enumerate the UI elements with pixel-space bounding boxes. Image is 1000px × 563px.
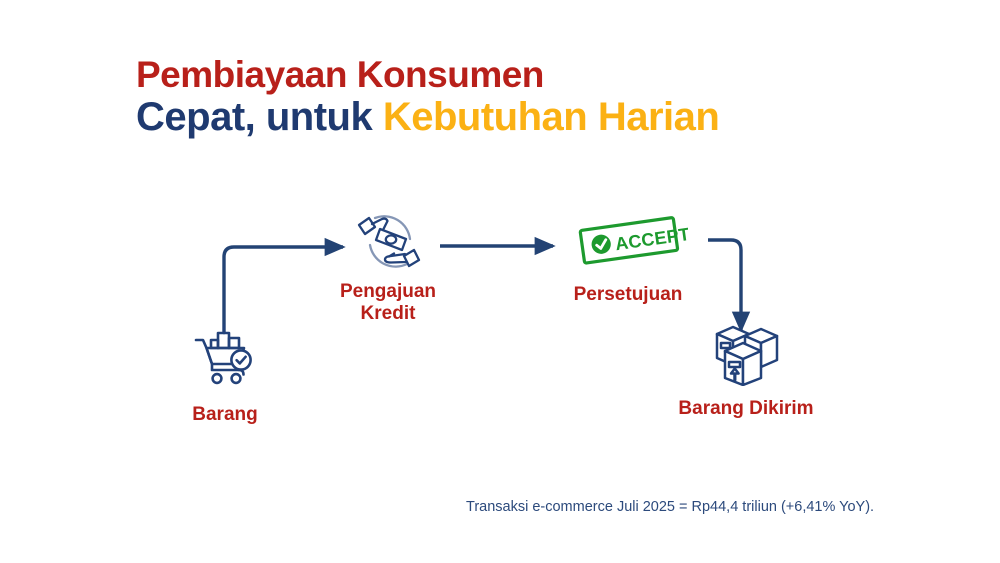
flow-node-kredit-label-line1: Pengajuan bbox=[340, 281, 436, 302]
title-line-2-highlight-gold: Kebutuhan Harian bbox=[383, 95, 719, 139]
flow-node-persetujuan-label: Persetujuan bbox=[553, 284, 703, 306]
title-line-2-highlight-navy: Cepat, untuk bbox=[136, 95, 383, 139]
slide-canvas: Pembiayaan Konsumen Cepat, untuk Kebutuh… bbox=[0, 0, 1000, 563]
shopping-cart-check-icon bbox=[150, 322, 300, 388]
flow-node-pengajuan-kredit[interactable]: Pengajuan Kredit bbox=[313, 208, 463, 325]
title-line-2: Cepat, untuk Kebutuhan Harian bbox=[136, 97, 896, 138]
accepted-stamp-icon: ACCEPTED bbox=[553, 208, 703, 274]
page-title: Pembiayaan Konsumen Cepat, untuk Kebutuh… bbox=[136, 56, 896, 138]
title-line-1: Pembiayaan Konsumen bbox=[136, 56, 896, 94]
flow-node-barang-dikirim-label: Barang Dikirim bbox=[666, 398, 826, 420]
footnote-text: Transaksi e-commerce Juli 2025 = Rp44,4 … bbox=[466, 499, 874, 515]
delivery-boxes-icon bbox=[666, 316, 826, 386]
hands-money-exchange-icon bbox=[313, 208, 463, 274]
flow-node-barang-label: Barang bbox=[150, 404, 300, 426]
flow-node-pengajuan-kredit-label: Pengajuan Kredit bbox=[313, 281, 463, 325]
flow-node-barang-dikirim[interactable]: Barang Dikirim bbox=[666, 316, 826, 420]
flow-node-kredit-label-line2: Kredit bbox=[361, 303, 416, 324]
flow-node-persetujuan[interactable]: ACCEPTED Persetujuan bbox=[553, 208, 703, 306]
flow-node-barang[interactable]: Barang bbox=[150, 322, 300, 426]
